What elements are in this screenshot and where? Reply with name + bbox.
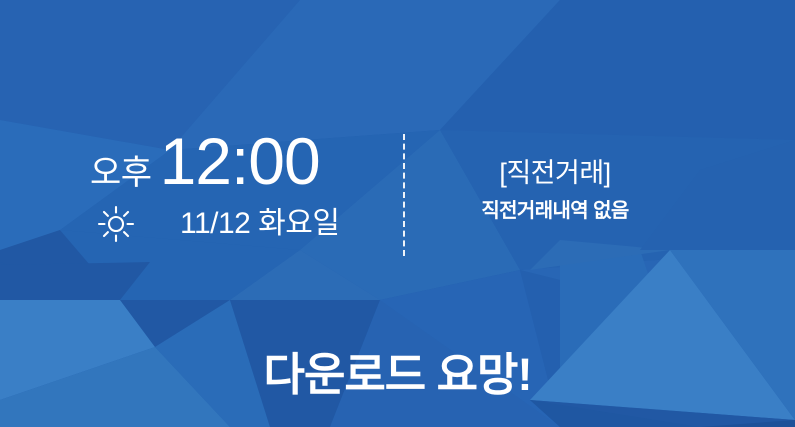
transaction-empty-message: 직전거래내역 없음	[420, 199, 690, 223]
sun-icon	[96, 204, 136, 244]
clock-widget[interactable]: 오후 12:00 11/12 화요일	[90, 128, 390, 258]
meridiem-label: 오후	[90, 156, 152, 190]
clock-date-row: 11/12 화요일	[96, 204, 339, 244]
clock-time-row: 오후 12:00	[90, 128, 320, 194]
clock-date: 11/12 화요일	[180, 209, 339, 239]
lock-screen-wallpaper: 오후 12:00 11/12 화요일 [	[0, 0, 795, 427]
vertical-dashed-divider	[403, 134, 405, 256]
clock-time: 12:00	[160, 128, 320, 194]
transaction-title: [직전거래]	[420, 158, 690, 189]
transaction-widget[interactable]: [직전거래] 직전거래내역 없음	[420, 158, 690, 223]
download-banner-text: 다운로드 요망!	[0, 352, 795, 397]
download-banner: 다운로드 요망!	[0, 352, 795, 397]
